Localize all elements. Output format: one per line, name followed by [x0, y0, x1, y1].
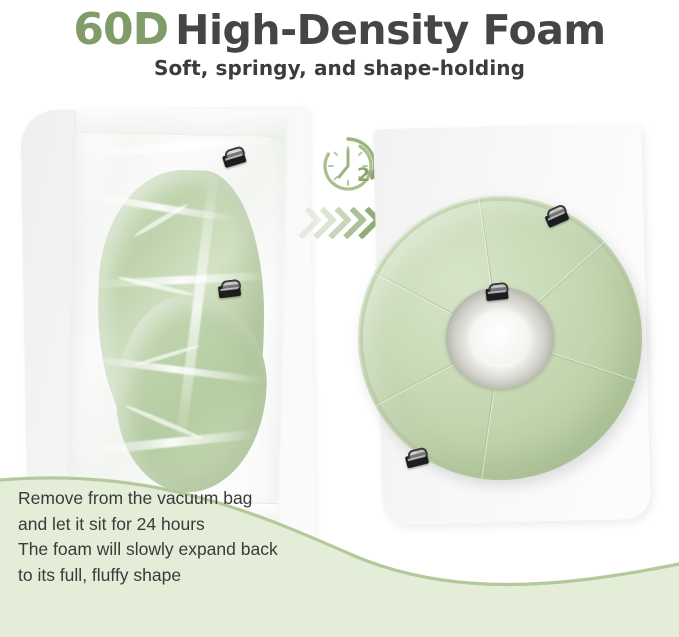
banner-line: and let it sit for 24 hours: [18, 512, 378, 538]
page-title: 60DHigh-Density Foam: [0, 4, 679, 55]
banner-text: Remove from the vacuum bag and let it si…: [18, 486, 378, 588]
title-rest: High-Density Foam: [175, 6, 605, 54]
collar-center-hole: [446, 287, 554, 389]
collar-hole-opening: [471, 311, 529, 365]
banner-line: Remove from the vacuum bag: [18, 486, 378, 512]
collar-clip: [485, 287, 508, 301]
bag-seal-top: [76, 106, 287, 137]
instruction-banner: Remove from the vacuum bag and let it si…: [0, 462, 679, 637]
expanded-collar-image: [358, 196, 642, 480]
infographic-canvas: 60DHigh-Density Foam Soft, springy, and …: [0, 0, 679, 637]
page-subtitle: Soft, springy, and shape-holding: [0, 56, 679, 80]
title-highlight: 60D: [73, 4, 168, 55]
banner-line: to its full, fluffy shape: [18, 563, 378, 589]
banner-line: The foam will slowly expand back: [18, 537, 378, 563]
